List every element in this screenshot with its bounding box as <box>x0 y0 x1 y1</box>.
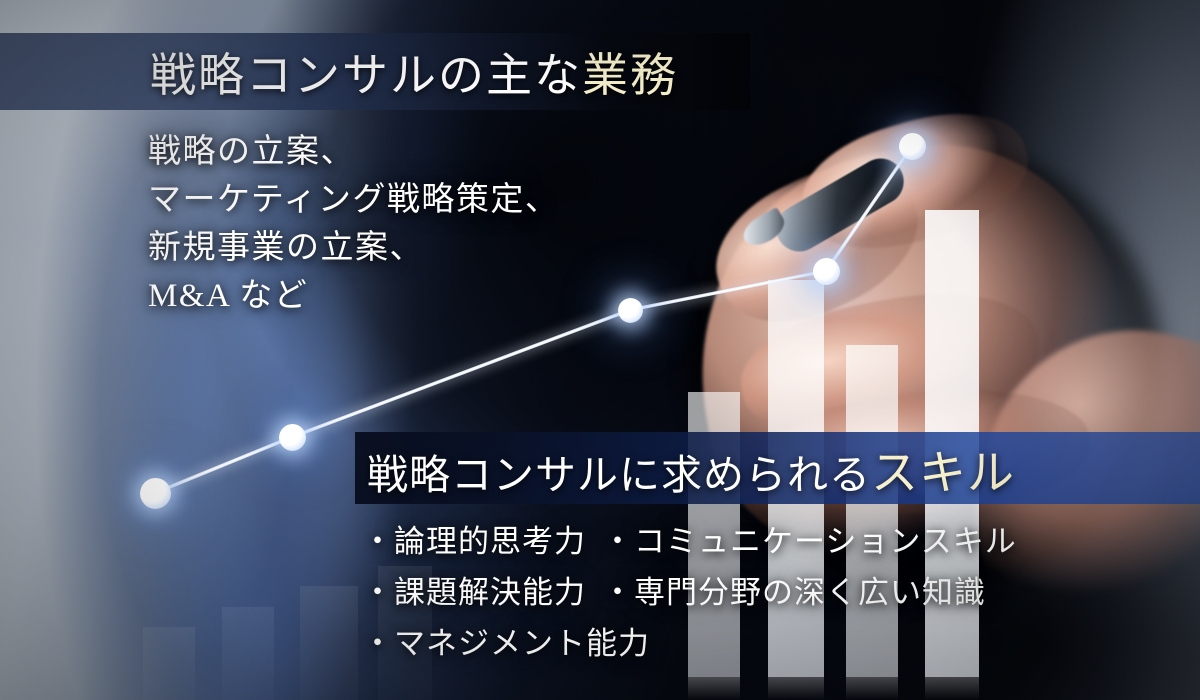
duties-item: マーケティング戦略策定、 <box>148 176 768 224</box>
skills-item: ・マネジメント能力 <box>362 626 650 661</box>
page-title-accent: 業務 <box>582 50 678 101</box>
skills-heading-accent: スキル <box>871 448 1015 500</box>
skills-item: ・専門分野の深く広い知識 <box>602 575 986 610</box>
chart-node <box>140 478 171 509</box>
chart-node <box>899 133 926 160</box>
page-title: 戦略コンサルの主な業務 <box>150 39 678 105</box>
chart-node <box>279 424 306 451</box>
skills-heading: 戦略コンサルに求められるスキル <box>367 434 1015 503</box>
duties-item: 新規事業の立案、 <box>148 224 768 272</box>
skills-row: ・論理的思考力・コミュニケーションスキル <box>362 516 1162 567</box>
chart-node <box>813 258 840 285</box>
skills-item: ・論理的思考力 <box>362 524 586 559</box>
skills-band: 戦略コンサルに求められるスキル <box>355 432 1200 504</box>
title-band: 戦略コンサルの主な業務 <box>0 33 750 110</box>
skills-row: ・マネジメント能力 <box>362 618 1162 669</box>
skills-item: ・コミュニケーションスキル <box>602 524 1017 559</box>
duties-item: M&A など <box>148 272 768 320</box>
duties-list: 戦略の立案、 マーケティング戦略策定、 新規事業の立案、 M&A など <box>148 128 768 320</box>
skills-item: ・課題解決能力 <box>362 575 586 610</box>
page-title-main: 戦略コンサルの主な <box>150 50 582 101</box>
banner-image: 戦略コンサルの主な業務 戦略の立案、 マーケティング戦略策定、 新規事業の立案、… <box>0 0 1200 700</box>
skills-heading-main: 戦略コンサルに求められる <box>367 452 871 498</box>
duties-item: 戦略の立案、 <box>148 128 768 176</box>
skills-row: ・課題解決能力・専門分野の深く広い知識 <box>362 567 1162 618</box>
skills-list: ・論理的思考力・コミュニケーションスキル ・課題解決能力・専門分野の深く広い知識… <box>362 516 1162 669</box>
